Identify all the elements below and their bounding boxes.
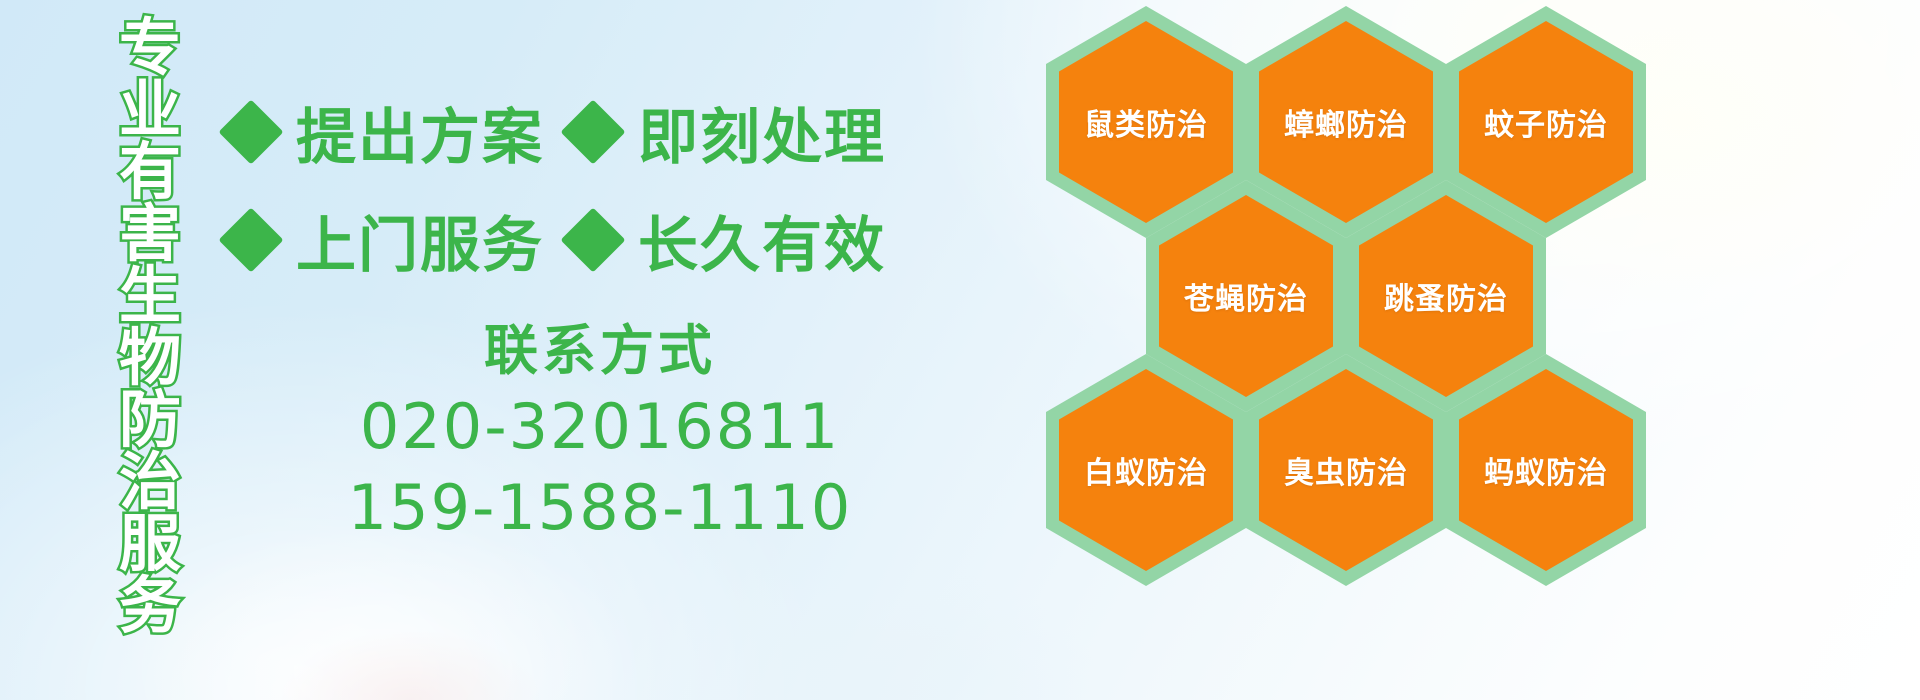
diamond-bullet-icon: [218, 207, 283, 272]
vertical-headline-char: 防: [119, 390, 181, 452]
feature-label: 长久有效: [638, 197, 886, 284]
vertical-headline-char: 服: [119, 514, 181, 576]
hex-service-ant[interactable]: 蚂蚁防治: [1446, 354, 1646, 586]
feature-label: 上门服务: [296, 197, 544, 284]
diamond-bullet-icon: [560, 207, 625, 272]
feature-label: 提出方案: [296, 89, 544, 176]
hex-service-label: 苍蝇防治: [1184, 274, 1308, 318]
pest-control-banner: 专 业 有 害 生 物 防 治 服 务 提出方案 即刻处理 上门服务: [0, 0, 1920, 700]
diamond-bullet-icon: [218, 99, 283, 164]
contact-title: 联系方式: [300, 318, 900, 386]
feature-row: 上门服务 长久有效: [228, 186, 868, 294]
phone-number-landline[interactable]: 020-32016811: [300, 386, 900, 468]
feature-item-onsite-service: 上门服务: [228, 197, 544, 284]
hex-service-label: 鼠类防治: [1084, 100, 1208, 144]
vertical-headline-char: 务: [119, 576, 181, 638]
contact-block: 联系方式 020-32016811 159-1588-1110: [300, 318, 900, 549]
vertical-headline-char: 物: [119, 328, 181, 390]
hex-service-label: 蟑螂防治: [1284, 100, 1408, 144]
vertical-headline-char: 害: [119, 204, 181, 266]
background-glow-center: [640, 560, 1100, 700]
hex-service-label: 蚊子防治: [1484, 100, 1608, 144]
vertical-headline-char: 有: [119, 142, 181, 204]
hex-service-bedbug[interactable]: 臭虫防治: [1246, 354, 1446, 586]
vertical-headline-char: 治: [119, 452, 181, 514]
feature-item-propose-plan: 提出方案: [228, 89, 544, 176]
feature-list: 提出方案 即刻处理 上门服务 长久有效: [228, 78, 868, 294]
vertical-headline-char: 专: [119, 18, 181, 80]
background-glow-bottom: [280, 630, 540, 700]
service-hex-grid: 鼠类防治 蟑螂防治 蚊子防治 苍蝇防治 跳蚤防治: [1060, 0, 1860, 700]
diamond-bullet-icon: [560, 99, 625, 164]
hex-service-label: 蚂蚁防治: [1484, 448, 1608, 492]
feature-row: 提出方案 即刻处理: [228, 78, 868, 186]
phone-number-mobile[interactable]: 159-1588-1110: [300, 467, 900, 549]
hex-service-label: 白蚁防治: [1084, 448, 1208, 492]
feature-item-long-lasting: 长久有效: [570, 197, 886, 284]
vertical-headline-char: 业: [119, 80, 181, 142]
hex-service-termite[interactable]: 白蚁防治: [1046, 354, 1246, 586]
hex-service-label: 臭虫防治: [1284, 448, 1408, 492]
vertical-headline: 专 业 有 害 生 物 防 治 服 务: [104, 18, 196, 578]
feature-item-immediate-handling: 即刻处理: [570, 89, 886, 176]
vertical-headline-char: 生: [119, 266, 181, 328]
feature-label: 即刻处理: [638, 89, 886, 176]
hex-service-label: 跳蚤防治: [1384, 274, 1508, 318]
